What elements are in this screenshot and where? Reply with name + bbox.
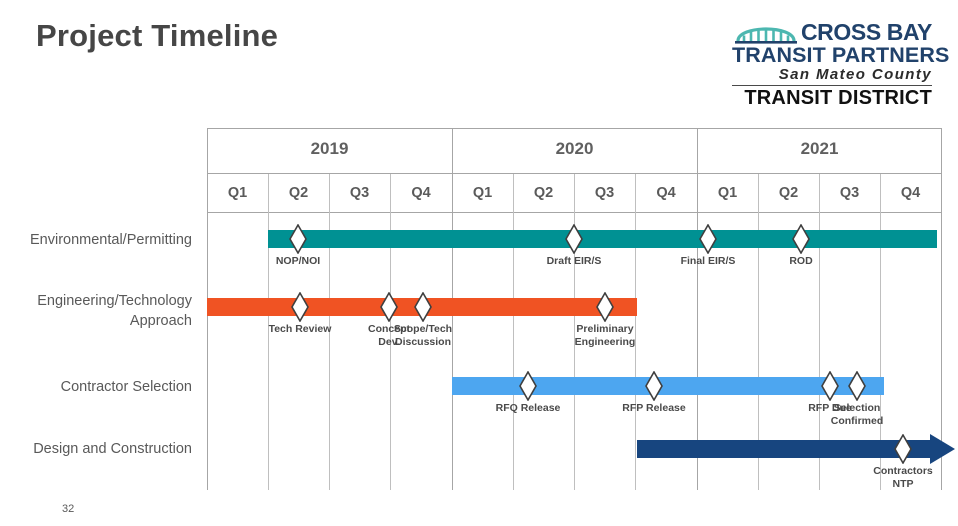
bar-arrowhead-design-and-construction	[930, 434, 955, 464]
milestone-label: Contractors NTP	[864, 465, 942, 490]
milestone-label: Final EIR/S	[663, 255, 753, 268]
diamond-icon	[792, 224, 810, 254]
diamond-icon	[894, 434, 912, 464]
milestone-label: RFP Release	[608, 402, 700, 415]
grid-vline-year-2021	[697, 128, 698, 490]
quarter-header-2021-q3: Q3	[819, 174, 880, 212]
row-label-contractor-selection: Contractor Selection	[0, 377, 192, 397]
quarter-header-2020-q2: Q2	[513, 174, 574, 212]
diamond-icon	[291, 292, 309, 322]
diamond-icon	[821, 371, 839, 401]
diamond-icon	[414, 292, 432, 322]
quarter-header-2021-q2: Q2	[758, 174, 819, 212]
milestone-label: Selection Confirmed	[820, 402, 894, 427]
diamond-icon	[565, 224, 583, 254]
quarter-header-2019-q4: Q4	[390, 174, 452, 212]
quarter-header-2019-q2: Q2	[268, 174, 329, 212]
diamond-icon	[380, 292, 398, 322]
quarter-header-2019-q1: Q1	[207, 174, 268, 212]
milestone-label: RFQ Release	[482, 402, 574, 415]
diamond-icon	[848, 371, 866, 401]
bar-environmental-permitting[interactable]	[268, 230, 937, 248]
year-header-2020: 2020	[452, 128, 697, 170]
bar-design-and-construction[interactable]	[637, 440, 930, 458]
diamond-icon	[519, 371, 537, 401]
year-header-2019: 2019	[207, 128, 452, 170]
quarter-header-2019-q3: Q3	[329, 174, 390, 212]
milestone-label: NOP/NOI	[253, 255, 343, 268]
bar-contractor-selection[interactable]	[452, 377, 884, 395]
milestone-label: Tech Review	[254, 323, 346, 336]
quarter-header-2021-q4: Q4	[880, 174, 941, 212]
row-label-design-and-construction: Design and Construction	[0, 439, 192, 459]
milestone-label: ROD	[766, 255, 836, 268]
quarter-header-2020-q3: Q3	[574, 174, 635, 212]
timeline-chart: 2019 2020 2021 Q1 Q2 Q3 Q4 Q1 Q2 Q3 Q4 Q…	[0, 0, 958, 526]
grid-vline-2020-q2	[513, 174, 514, 490]
quarter-header-2021-q1: Q1	[697, 174, 758, 212]
milestone-label: Draft EIR/S	[529, 255, 619, 268]
diamond-icon	[645, 371, 663, 401]
milestone-label: Preliminary Engineering	[565, 323, 645, 348]
diamond-icon	[596, 292, 614, 322]
row-label-environmental-permitting: Environmental/Permitting	[0, 230, 192, 250]
quarter-header-2020-q4: Q4	[635, 174, 697, 212]
row-label-engineering-technology-approach: Engineering/TechnologyApproach	[0, 291, 192, 331]
diamond-icon	[289, 224, 307, 254]
page-number: 32	[62, 503, 74, 515]
quarter-header-2020-q1: Q1	[452, 174, 513, 212]
milestone-label: Scope/Tech Discussion	[384, 323, 462, 348]
year-header-2021: 2021	[697, 128, 942, 170]
diamond-icon	[699, 224, 717, 254]
